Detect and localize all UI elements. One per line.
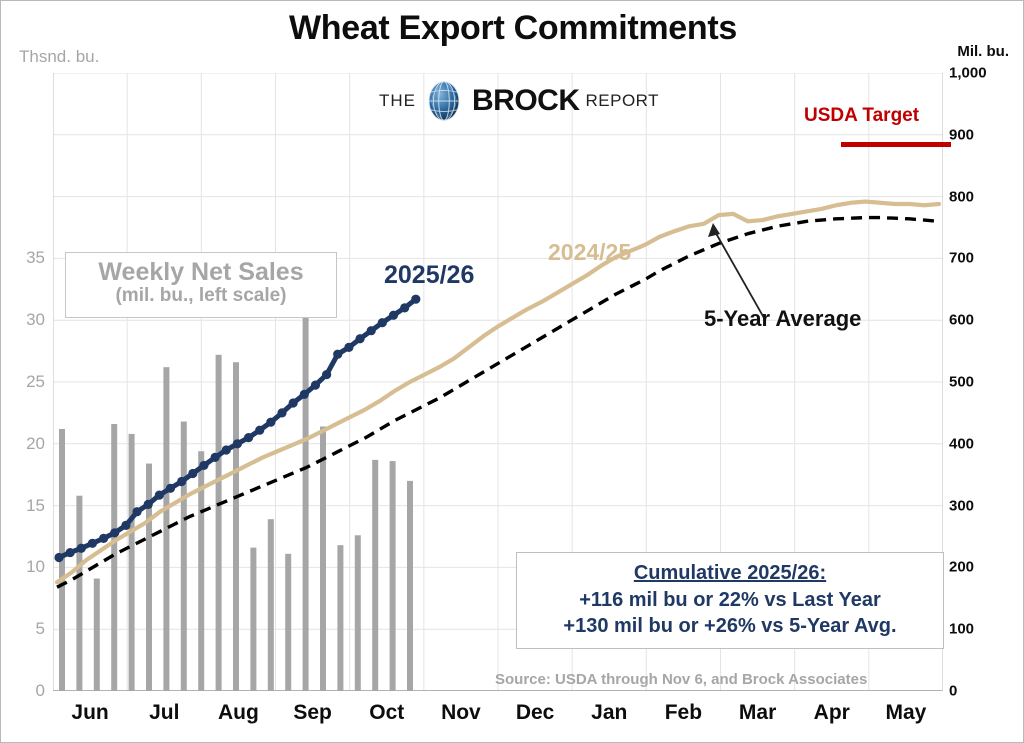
data-point	[411, 295, 420, 304]
brock-report-logo: THE BROCK	[379, 79, 659, 123]
data-point	[54, 553, 63, 562]
data-point	[244, 433, 253, 442]
left-axis-unit-label: Thsnd. bu.	[19, 47, 99, 67]
y-tick-left: 30	[1, 310, 45, 330]
usda-target-label: USDA Target	[804, 105, 919, 127]
data-point	[355, 334, 364, 343]
bar	[320, 426, 326, 691]
y-tick-left: 25	[1, 372, 45, 392]
x-tick-oct: Oct	[369, 701, 404, 725]
data-point	[211, 453, 220, 462]
logo-brock-text: BROCK	[472, 84, 580, 118]
y-tick-right: 1,000	[949, 65, 1009, 82]
bar	[407, 481, 413, 691]
usda-target-line	[841, 142, 951, 147]
y-tick-left: 10	[1, 557, 45, 577]
data-point	[132, 507, 141, 516]
y-tick-right: 400	[949, 435, 1009, 452]
bar	[129, 434, 135, 691]
bar	[372, 460, 378, 691]
y-tick-right: 500	[949, 374, 1009, 391]
x-tick-aug: Aug	[218, 701, 259, 725]
bar	[216, 355, 222, 691]
data-point	[400, 303, 409, 312]
y-tick-left: 20	[1, 434, 45, 454]
data-point	[378, 318, 387, 327]
bar	[355, 535, 361, 691]
weekly-net-sales-legend: Weekly Net Sales (mil. bu., left scale)	[65, 252, 337, 318]
data-point	[255, 426, 264, 435]
y-tick-right: 900	[949, 126, 1009, 143]
globe-icon	[422, 79, 466, 123]
data-point	[188, 469, 197, 478]
data-point	[66, 548, 75, 557]
data-point	[77, 544, 86, 553]
y-tick-right: 300	[949, 497, 1009, 514]
weekly-net-sales-bars	[59, 287, 413, 691]
x-tick-jul: Jul	[149, 701, 179, 725]
bar	[76, 496, 82, 691]
bar	[268, 519, 274, 691]
bar	[303, 287, 309, 691]
data-point	[233, 439, 242, 448]
bar	[181, 422, 187, 691]
data-point	[155, 490, 164, 499]
chart-frame: Wheat Export Commitments Thsnd. bu. Mil.…	[0, 0, 1024, 743]
bar	[146, 464, 152, 691]
data-point	[144, 500, 153, 509]
cumulative-heading: Cumulative 2025/26:	[525, 560, 935, 587]
data-point	[333, 350, 342, 359]
x-tick-sep: Sep	[293, 701, 332, 725]
data-point	[322, 370, 331, 379]
data-point	[266, 418, 275, 427]
page-title: Wheat Export Commitments	[1, 9, 1024, 48]
data-point	[367, 326, 376, 335]
data-point	[166, 484, 175, 493]
x-tick-may: May	[885, 701, 926, 725]
series-label-5-year-average: 5-Year Average	[704, 306, 861, 332]
cumulative-callout-box: Cumulative 2025/26: +116 mil bu or 22% v…	[516, 552, 944, 649]
bar	[233, 362, 239, 691]
right-axis-unit-label: Mil. bu.	[957, 43, 1009, 60]
bar	[337, 545, 343, 691]
x-tick-mar: Mar	[739, 701, 776, 725]
data-point	[177, 477, 186, 486]
y-tick-right: 600	[949, 312, 1009, 329]
data-point	[88, 539, 97, 548]
y-tick-right: 0	[949, 683, 1009, 700]
data-point	[110, 528, 119, 537]
bar	[250, 548, 256, 691]
data-point	[344, 343, 353, 352]
data-point	[389, 311, 398, 320]
data-point	[289, 398, 298, 407]
source-note: Source: USDA through Nov 6, and Brock As…	[495, 671, 867, 688]
y-tick-left: 15	[1, 496, 45, 516]
x-tick-feb: Feb	[665, 701, 702, 725]
cumulative-line-1: +116 mil bu or 22% vs Last Year	[525, 587, 935, 613]
x-tick-jan: Jan	[591, 701, 627, 725]
bar	[285, 554, 291, 691]
bar	[390, 461, 396, 691]
series-label-2024-25: 2024/25	[548, 239, 631, 266]
y-tick-left: 0	[1, 681, 45, 701]
y-tick-right: 700	[949, 250, 1009, 267]
logo-the-text: THE	[379, 91, 416, 111]
y-tick-left: 5	[1, 619, 45, 639]
data-point	[199, 461, 208, 470]
data-point	[121, 521, 130, 530]
logo-report-text: REPORT	[586, 91, 660, 111]
x-tick-apr: Apr	[814, 701, 850, 725]
y-tick-right: 800	[949, 188, 1009, 205]
data-point	[99, 534, 108, 543]
cumulative-line-2: +130 mil bu or +26% vs 5-Year Avg.	[525, 613, 935, 639]
x-tick-jun: Jun	[71, 701, 108, 725]
bar	[94, 579, 100, 691]
data-point	[222, 445, 231, 454]
weekly-net-sales-title: Weekly Net Sales	[76, 259, 326, 285]
y-tick-left: 35	[1, 248, 45, 268]
x-tick-nov: Nov	[441, 701, 481, 725]
data-point	[311, 380, 320, 389]
weekly-net-sales-subtitle: (mil. bu., left scale)	[76, 285, 326, 308]
y-tick-right: 100	[949, 621, 1009, 638]
y-tick-right: 200	[949, 559, 1009, 576]
series-label-2025-26: 2025/26	[384, 261, 474, 290]
data-point	[300, 390, 309, 399]
bar	[163, 367, 169, 691]
data-point	[277, 408, 286, 417]
x-tick-dec: Dec	[516, 701, 555, 725]
